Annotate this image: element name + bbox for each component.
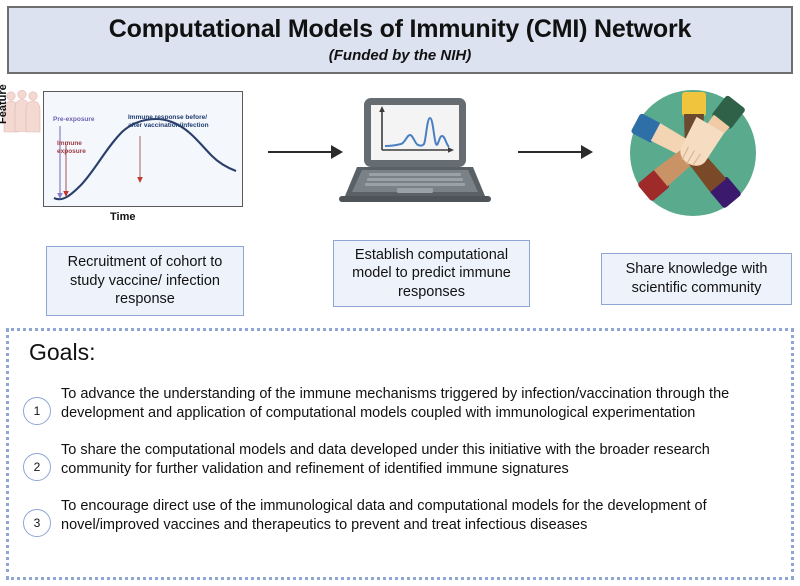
page-title: Computational Models of Immunity (CMI) N… — [109, 16, 691, 44]
caption-model: Establish computational model to predict… — [333, 240, 530, 307]
goals-list: 1 To advance the understanding of the im… — [9, 383, 791, 551]
goal-text: To advance the understanding of the immu… — [61, 383, 773, 424]
goal-number-badge: 2 — [23, 453, 51, 481]
goal-number-badge: 1 — [23, 397, 51, 425]
caption-cohort: Recruitment of cohort to study vaccine/ … — [46, 246, 244, 316]
laptop-chart-icon — [335, 92, 495, 212]
list-item: 3 To encourage direct use of the immunol… — [9, 495, 791, 537]
header-banner: Computational Models of Immunity (CMI) N… — [7, 6, 793, 74]
response-arrowhead — [137, 177, 143, 183]
annotation-pre-exposure: Pre-exposure — [53, 116, 95, 124]
stage-model — [335, 92, 495, 212]
hands-together-icon — [628, 88, 758, 218]
caption-share: Share knowledge with scientific communit… — [601, 253, 792, 305]
list-item: 2 To share the computational models and … — [9, 439, 791, 481]
goal-text: To share the computational models and da… — [61, 439, 773, 480]
arrow-right-icon — [518, 145, 593, 159]
arrow-right-icon — [268, 145, 343, 159]
page-subtitle: (Funded by the NIH) — [329, 47, 472, 64]
goals-title: Goals: — [29, 339, 95, 366]
list-item: 1 To advance the understanding of the im… — [9, 383, 791, 425]
annotation-immune-exposure: Immuneexposure — [57, 140, 86, 156]
chart-y-axis-label: Feature — [0, 84, 9, 124]
annotation-immune-response: Immune response before/after vaccination… — [128, 114, 209, 130]
goals-panel: Goals: 1 To advance the understanding of… — [6, 328, 794, 580]
stage-share — [628, 88, 758, 218]
stage-cohort: Feature Time Pre-exposure Immuneexposure… — [0, 84, 255, 234]
goal-number-badge: 3 — [23, 509, 51, 537]
goal-text: To encourage direct use of the immunolog… — [61, 495, 773, 536]
arrow-shaft — [268, 151, 332, 154]
arrow-head — [581, 145, 593, 159]
arrow-shaft — [518, 151, 582, 154]
response-curve — [54, 119, 236, 199]
chart-x-axis-label: Time — [110, 211, 135, 223]
